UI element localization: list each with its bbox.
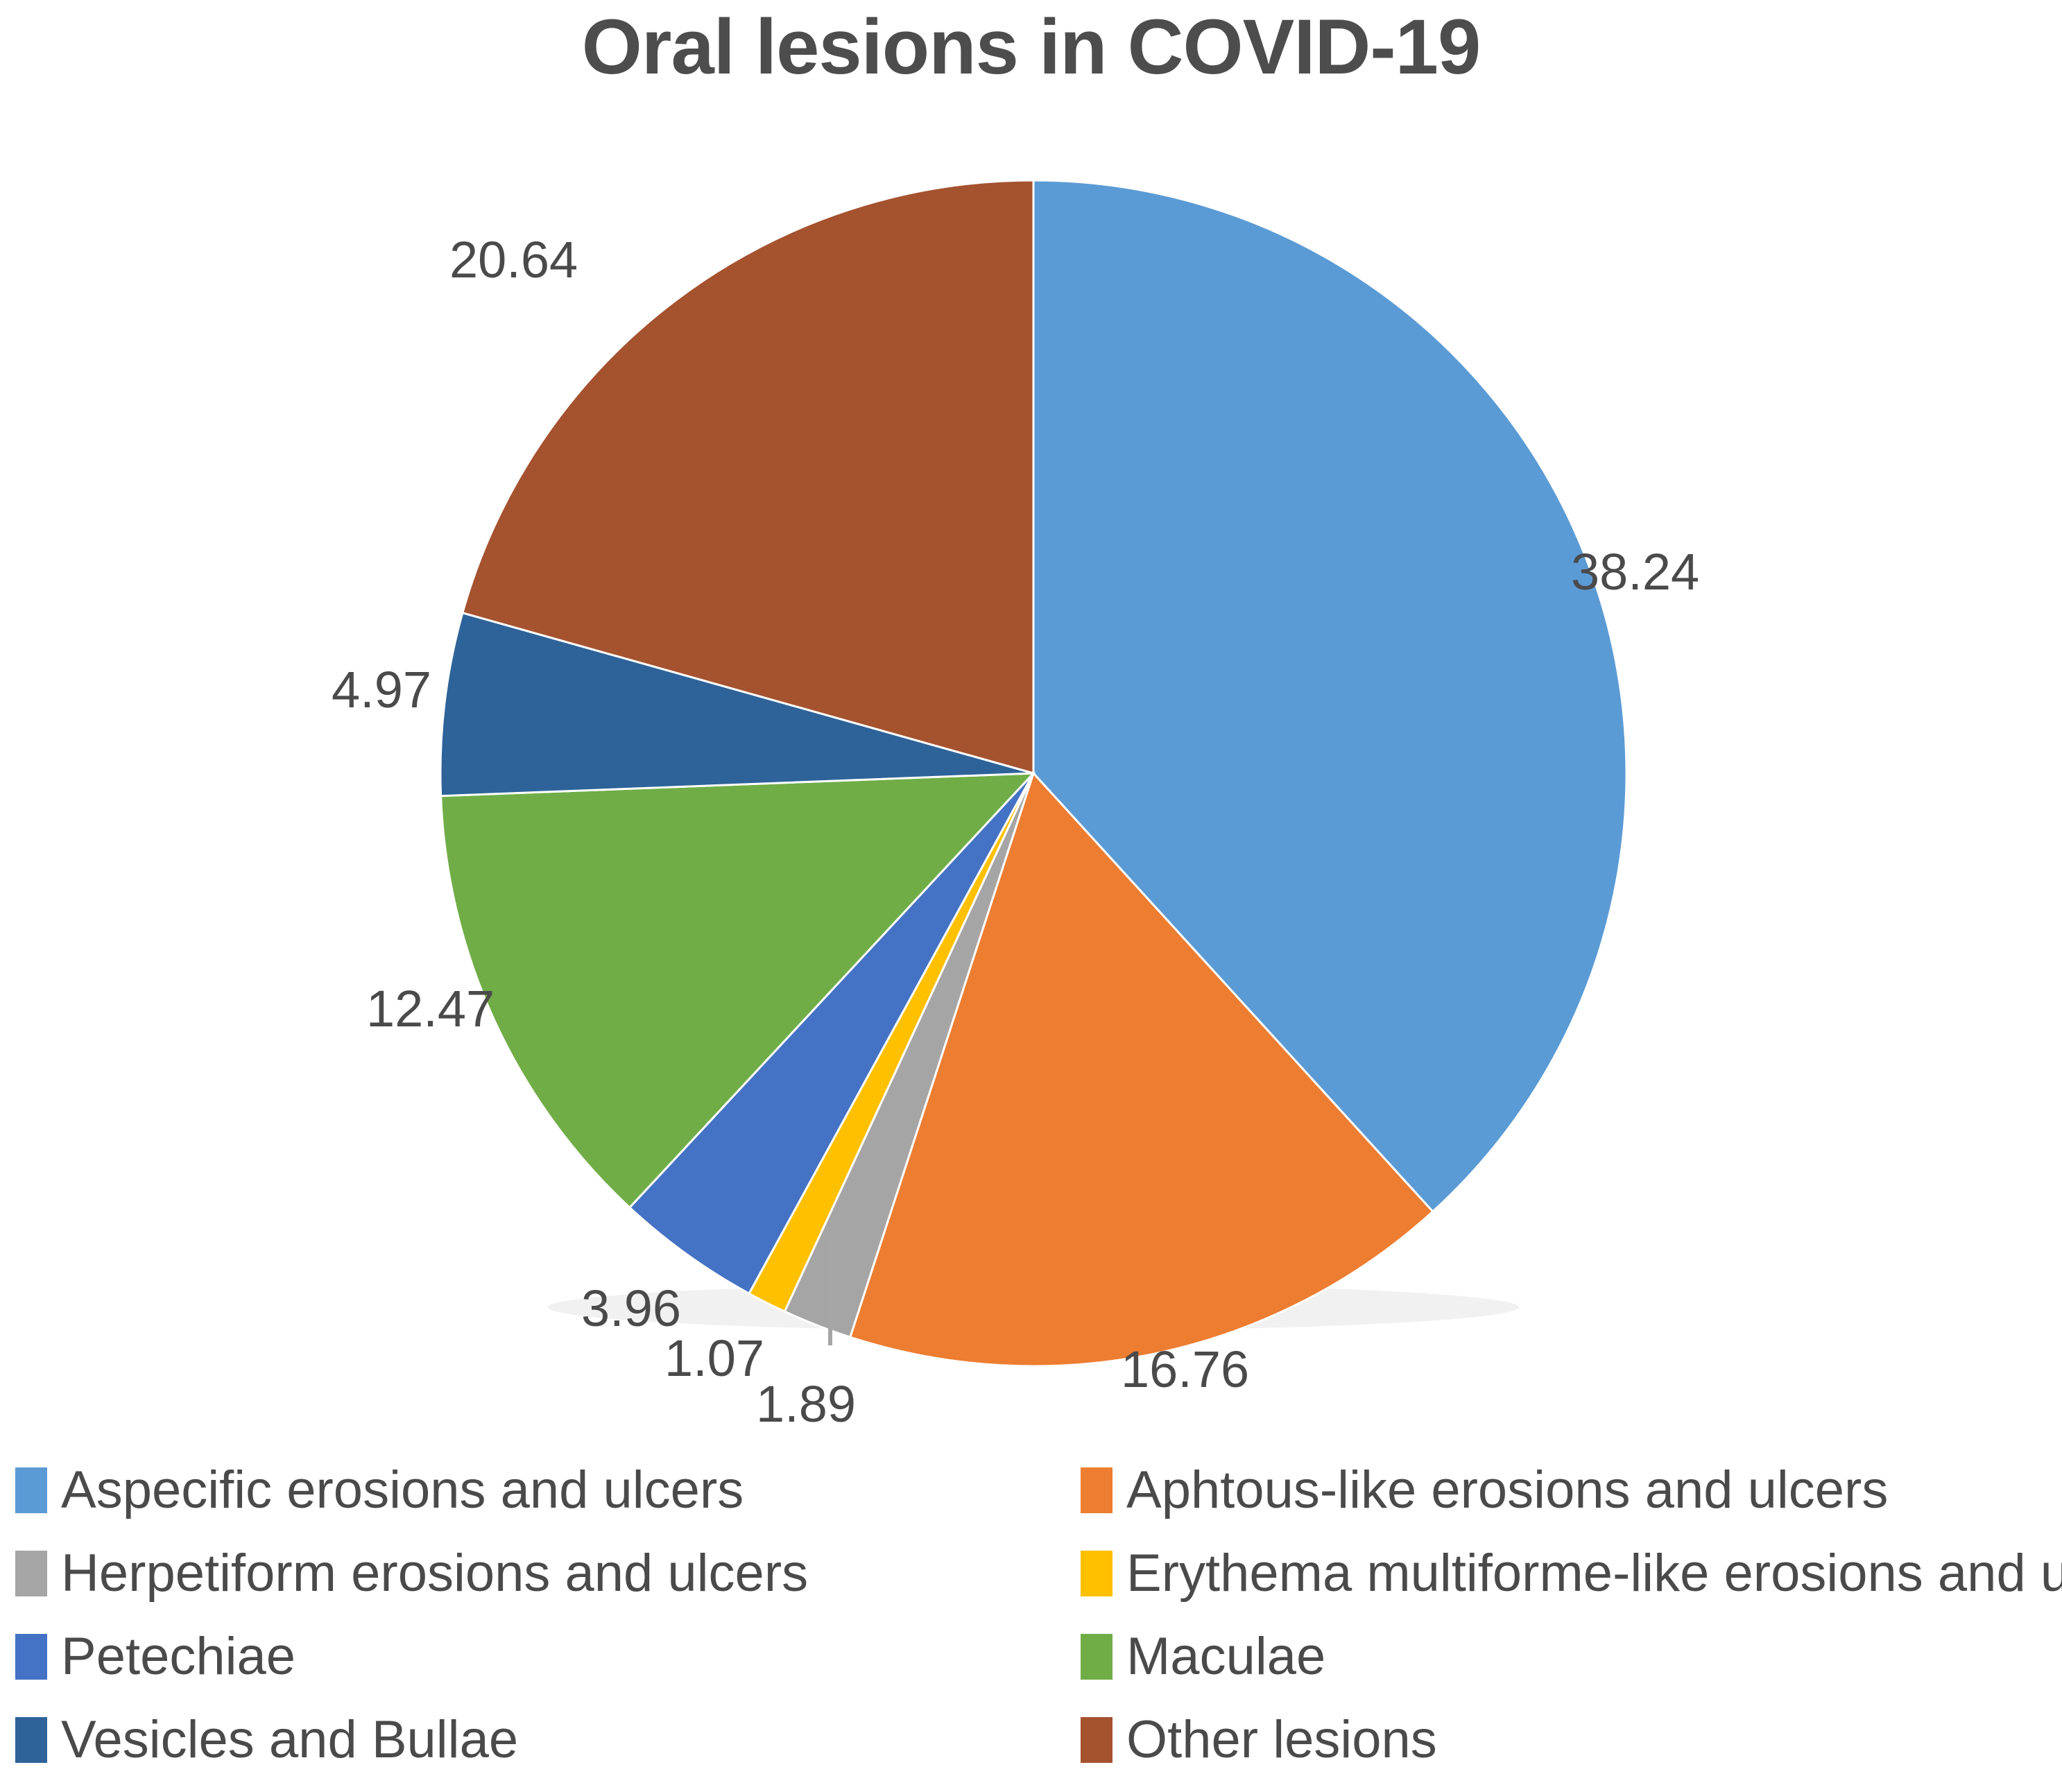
page-title: Oral lesions in COVID-19 xyxy=(0,4,2062,89)
legend-item-erythema-multiforme-like-erosions-and-ulcers[interactable]: Erythema multiforme-like erosions and ul… xyxy=(1081,1547,2062,1600)
data-label-erythema: 1.07 xyxy=(664,1333,764,1384)
data-label-aphtous: 16.76 xyxy=(1121,1344,1249,1395)
legend-item-label: Erythema multiforme-like erosions and ul… xyxy=(1126,1547,2062,1600)
legend-swatch-icon xyxy=(15,1551,47,1596)
pie-svg xyxy=(0,104,2062,1442)
data-label-aspecific: 38.24 xyxy=(1571,546,1699,598)
data-label-vesicles: 4.97 xyxy=(332,664,431,716)
legend-swatch-icon xyxy=(1081,1634,1112,1680)
legend-item-label: Other lesions xyxy=(1126,1714,1437,1766)
legend-item-label: Vesicles and Bullae xyxy=(61,1714,518,1766)
legend-item-label: Aspecific erosions and ulcers xyxy=(61,1464,744,1517)
data-label-maculae: 12.47 xyxy=(366,983,495,1035)
legend-item-herpetiform-erosions-and-ulcers[interactable]: Herpetiform erosions and ulcers xyxy=(15,1547,808,1600)
legend-swatch-icon xyxy=(1081,1551,1112,1596)
legend-swatch-icon xyxy=(1081,1717,1112,1763)
data-label-herpetiform: 1.89 xyxy=(756,1379,856,1430)
legend-swatch-icon xyxy=(15,1467,47,1513)
data-label-other: 20.64 xyxy=(449,234,578,286)
pie-slices-group xyxy=(440,180,1626,1366)
legend-item-vesicles-and-bullae[interactable]: Vesicles and Bullae xyxy=(15,1714,518,1766)
legend-swatch-icon xyxy=(15,1717,47,1763)
legend-item-aphtous-like-erosions-and-ulcers[interactable]: Aphtous-like erosions and ulcers xyxy=(1081,1464,1888,1517)
legend-item-maculae[interactable]: Maculae xyxy=(1081,1630,1325,1683)
legend-swatch-icon xyxy=(1081,1467,1112,1513)
legend-item-petechiae[interactable]: Petechiae xyxy=(15,1630,295,1683)
legend-item-label: Aphtous-like erosions and ulcers xyxy=(1126,1464,1888,1517)
legend-swatch-icon xyxy=(15,1634,47,1680)
pie-plot-area: 38.24 16.76 1.89 1.07 3.96 12.47 4.97 20… xyxy=(0,104,2062,1442)
legend-item-label: Herpetiform erosions and ulcers xyxy=(61,1547,808,1600)
data-label-petechiae: 3.96 xyxy=(581,1283,681,1334)
legend-item-other-lesions[interactable]: Other lesions xyxy=(1081,1714,1437,1766)
pie-chart-figure: Oral lesions in COVID-19 38.24 16.76 1.8… xyxy=(0,0,2062,1792)
legend-item-aspecific-erosions-and-ulcers[interactable]: Aspecific erosions and ulcers xyxy=(15,1464,744,1517)
chart-legend: Aspecific erosions and ulcers Aphtous-li… xyxy=(0,1460,2062,1786)
legend-item-label: Petechiae xyxy=(61,1630,295,1683)
legend-item-label: Maculae xyxy=(1126,1630,1325,1683)
